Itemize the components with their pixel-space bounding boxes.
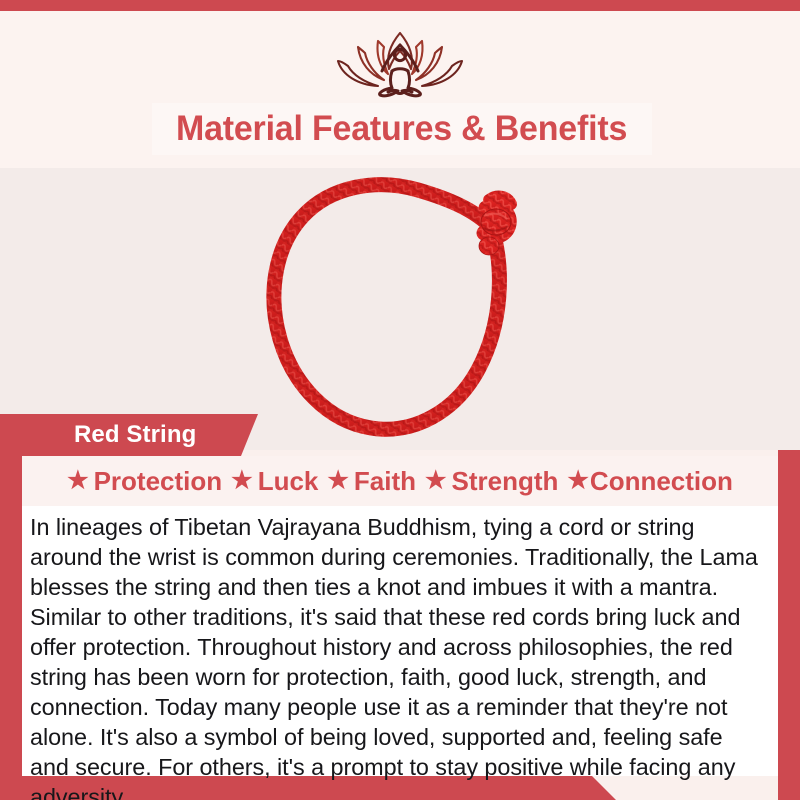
ribbon-label: Red String (0, 414, 258, 456)
benefit-faith: ★ Faith (327, 466, 416, 497)
hero-zone (0, 168, 800, 450)
description-panel: In lineages of Tibetan Vajrayana Buddhis… (22, 506, 778, 776)
benefit-strength: ★ Strength (425, 466, 558, 497)
star-icon: ★ (67, 469, 89, 493)
star-icon: ★ (231, 469, 253, 493)
benefit-protection: ★ Protection (67, 466, 222, 497)
star-icon: ★ (327, 469, 349, 493)
bracelet-knot (479, 207, 511, 255)
benefit-label: Faith (354, 466, 416, 497)
frame-top-bar (0, 0, 800, 11)
benefit-label: Protection (94, 466, 223, 497)
benefit-connection: ★ Connection (567, 466, 733, 497)
page-title: Material Features & Benefits (176, 109, 627, 149)
benefit-label: Strength (452, 466, 559, 497)
poster-canvas: BUDDHA STONES Material Features & Benefi… (0, 0, 800, 800)
benefit-luck: ★ Luck (231, 466, 318, 497)
star-icon: ★ (567, 469, 589, 493)
title-plaque: Material Features & Benefits (152, 103, 652, 155)
description-text: In lineages of Tibetan Vajrayana Buddhis… (30, 512, 760, 800)
star-icon: ★ (425, 469, 447, 493)
benefits-strip: ★ Protection ★ Luck ★ Faith ★ Strength ★… (22, 456, 778, 506)
ribbon-text: Red String (74, 421, 196, 449)
benefit-label: Connection (590, 466, 733, 497)
lotus-meditation-icon (318, 25, 482, 99)
benefit-label: Luck (258, 466, 319, 497)
red-string-bracelet-image (253, 176, 553, 450)
